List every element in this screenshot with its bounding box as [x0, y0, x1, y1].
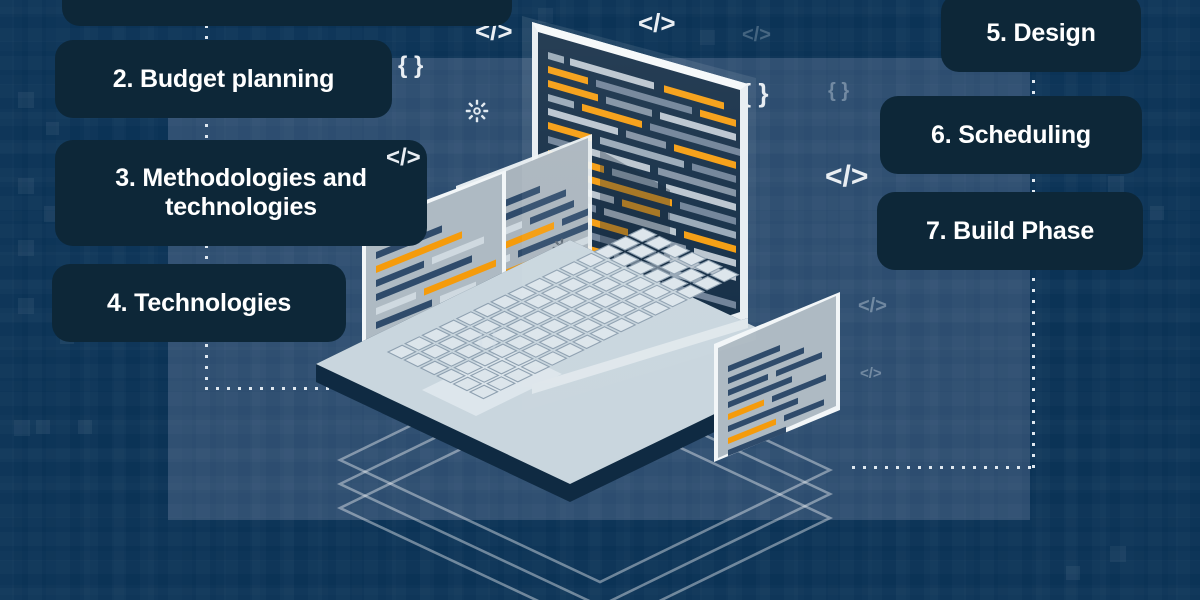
pixel-square [18, 92, 34, 108]
code-tag-icon: </> [386, 144, 421, 172]
step-pill-6-label: 6. Scheduling [931, 121, 1091, 150]
pixel-square [78, 420, 92, 434]
step-pill-2-label: 2. Budget planning [113, 65, 334, 94]
step-pill-1[interactable] [62, 0, 512, 26]
step-pill-7[interactable]: 7. Build Phase [877, 192, 1143, 270]
pixel-square [1066, 566, 1080, 580]
pixel-square [36, 420, 50, 434]
braces-icon: { } [477, 328, 498, 351]
step-pill-2[interactable]: 2. Budget planning [55, 40, 392, 118]
pixel-square [46, 122, 59, 135]
pixel-square [14, 420, 30, 436]
pixel-square [1150, 206, 1164, 220]
infographic-canvas: </> </> </> </> </> </> </> { } { } { } … [0, 0, 1200, 600]
pixel-square [18, 240, 34, 256]
pixel-square [18, 178, 34, 194]
step-pill-4-label: 4. Technologies [107, 289, 291, 318]
step-pill-6[interactable]: 6. Scheduling [880, 96, 1142, 174]
pixel-square [1110, 546, 1126, 562]
step-pill-5[interactable]: 5. Design [941, 0, 1141, 72]
step-pill-7-label: 7. Build Phase [926, 217, 1094, 246]
pixel-square [18, 298, 34, 314]
step-pill-4[interactable]: 4. Technologies [52, 264, 346, 342]
step-pill-3-label: 3. Methodologies and technologies [71, 164, 411, 222]
step-pill-5-label: 5. Design [986, 19, 1095, 48]
pixel-square [1108, 176, 1124, 192]
step-pill-3[interactable]: 3. Methodologies and technologies [55, 140, 427, 246]
